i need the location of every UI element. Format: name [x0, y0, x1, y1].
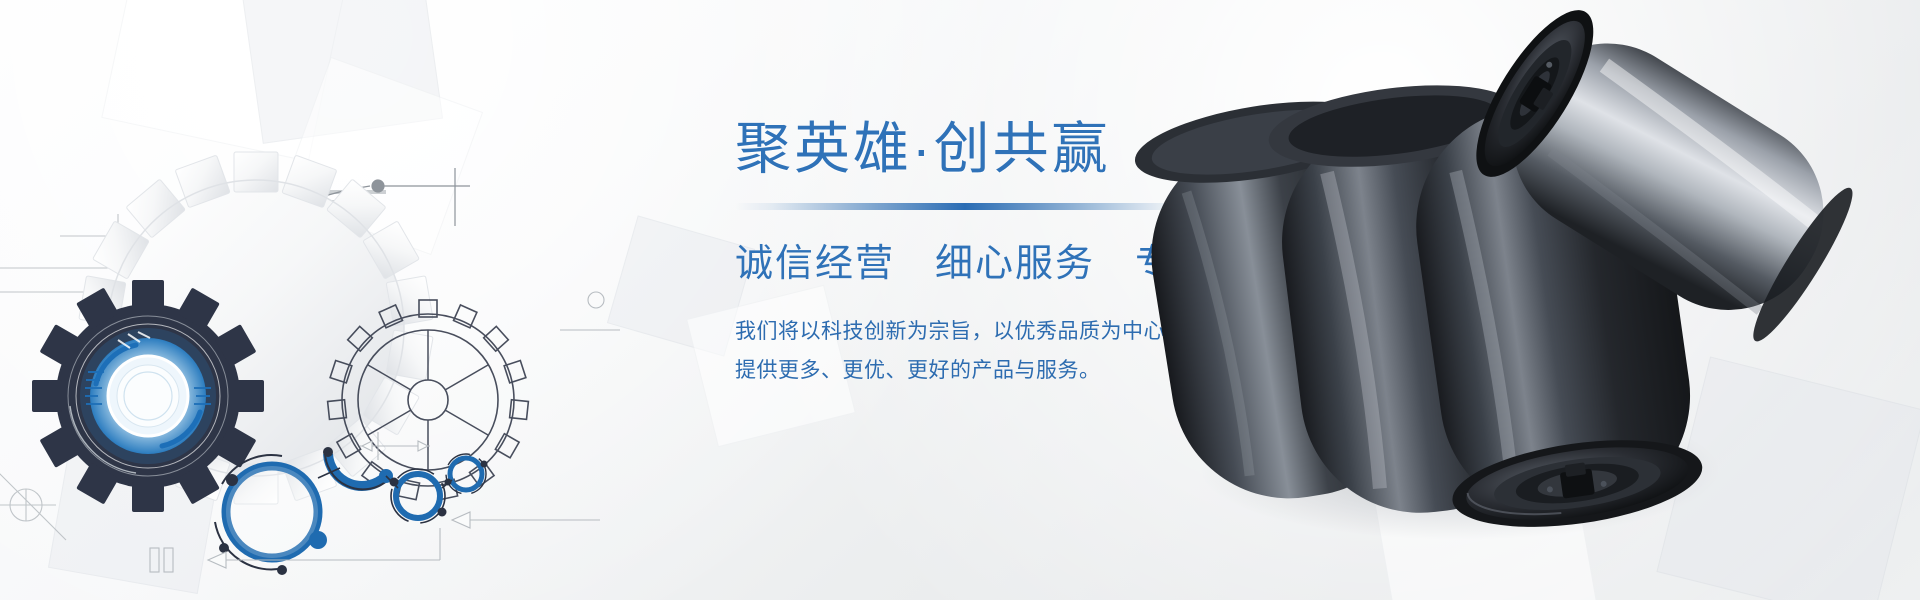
promo-banner: 聚英雄·创共赢 诚信经营 细心服务 专业技术 我们将以科技创新为宗旨，以优秀品质… — [0, 0, 1920, 600]
small-blue-ring — [445, 454, 488, 494]
medium-blue-ring — [390, 469, 447, 523]
industrial-gear-tech-illustration — [0, 0, 700, 600]
conveyor-roller-product-photo — [1100, 0, 1920, 600]
